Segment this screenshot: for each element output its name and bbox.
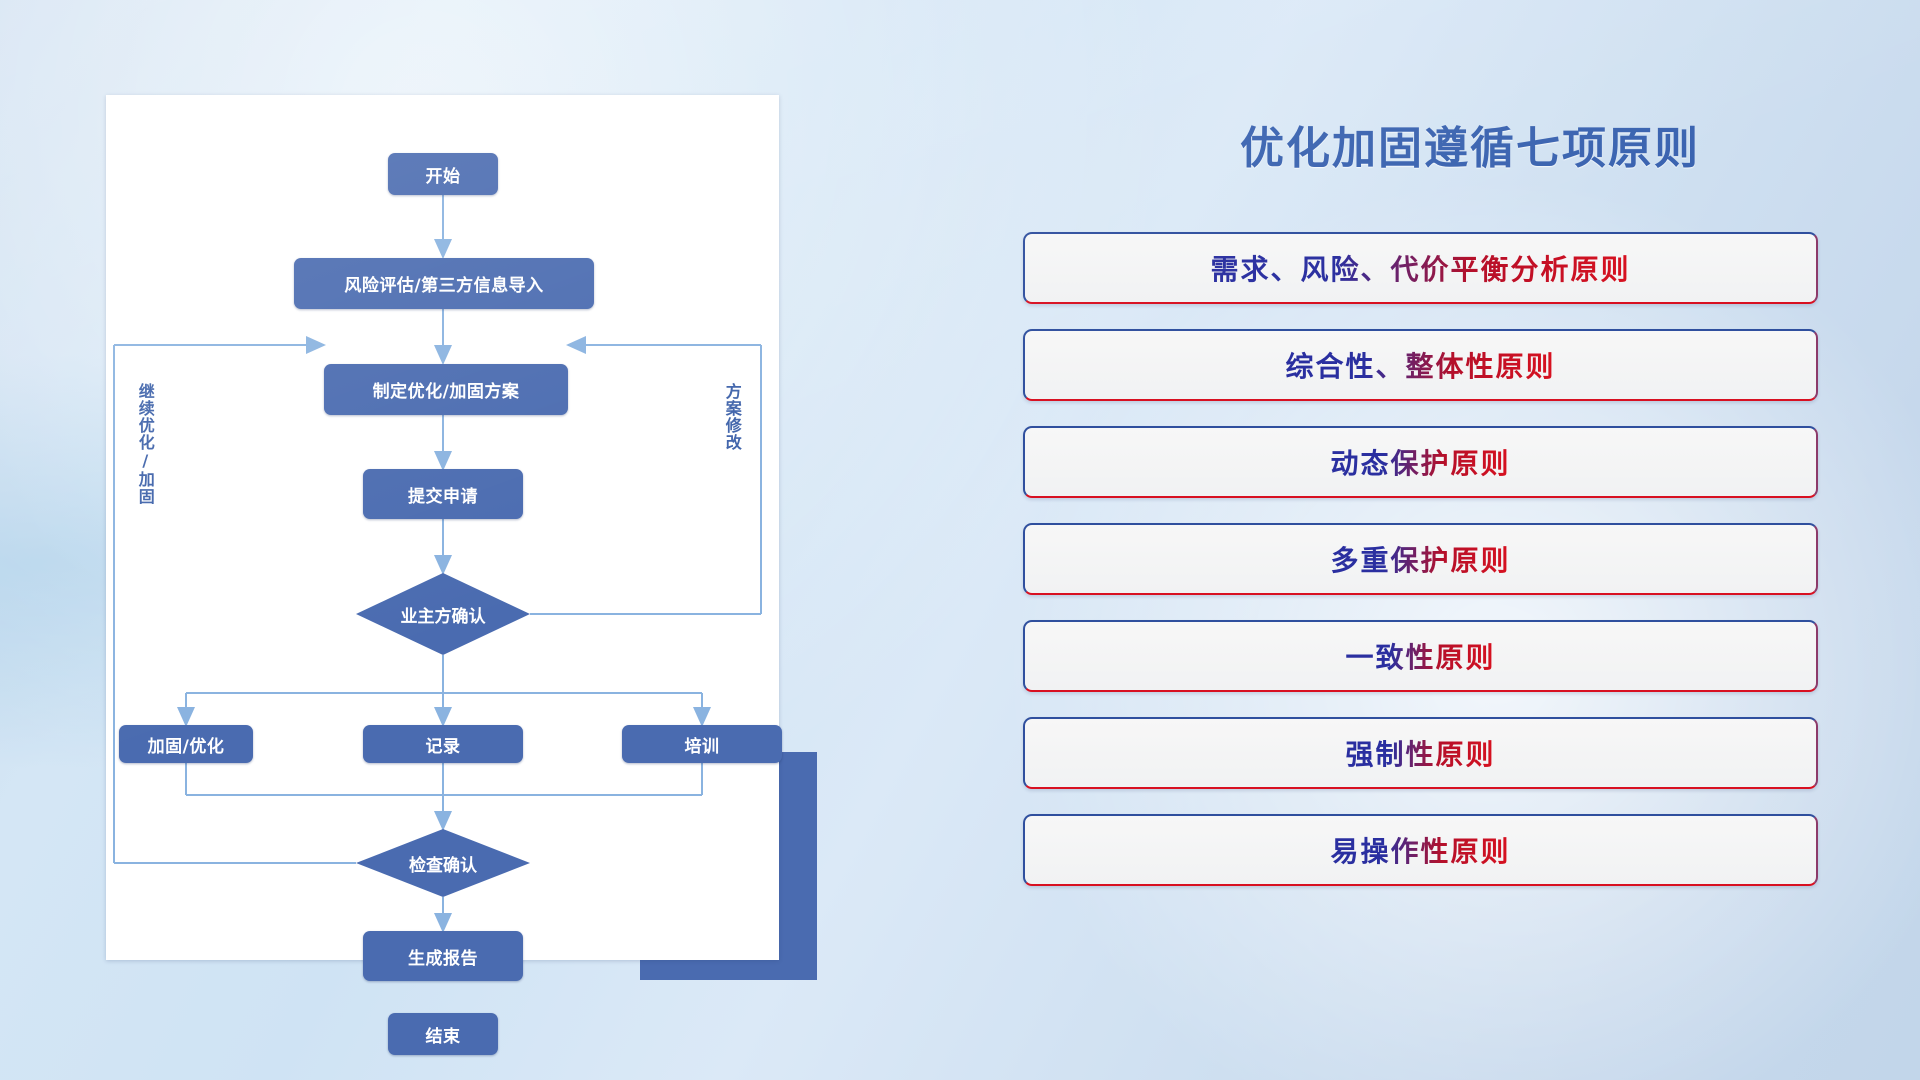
edge-label-right: 方案修改 <box>723 383 740 451</box>
flow-node-risk-assessment[interactable]: 风险评估/第三方信息导入 <box>294 258 594 309</box>
principle-card-5[interactable]: 一致性原则 <box>1023 620 1818 692</box>
flow-node-make-plan[interactable]: 制定优化/加固方案 <box>324 364 568 415</box>
flow-node-label: 检查确认 <box>409 851 477 876</box>
flow-node-training[interactable]: 培训 <box>622 725 782 763</box>
flow-node-label: 业主方确认 <box>401 602 486 627</box>
flow-node-label: 风险评估/第三方信息导入 <box>344 271 543 296</box>
flow-node-label: 制定优化/加固方案 <box>373 377 520 402</box>
flow-node-check-confirm[interactable]: 检查确认 <box>356 829 530 897</box>
flowchart-canvas: 继续优化/加固 方案修改 开始 风险评估/第三方信息导入 制定优化/加固方案 提… <box>106 95 779 960</box>
flow-node-generate-report[interactable]: 生成报告 <box>363 931 523 981</box>
principle-label: 综合性、整体性原则 <box>1285 345 1555 385</box>
flow-node-reinforce-optimize[interactable]: 加固/优化 <box>119 725 253 763</box>
flowchart-card: 继续优化/加固 方案修改 开始 风险评估/第三方信息导入 制定优化/加固方案 提… <box>106 95 779 960</box>
principle-card-3[interactable]: 动态保护原则 <box>1023 426 1818 498</box>
flow-node-label: 结束 <box>426 1022 461 1047</box>
page-title: 优化加固遵循七项原则 <box>1150 112 1790 176</box>
principle-label: 多重保护原则 <box>1330 539 1510 579</box>
principle-card-4[interactable]: 多重保护原则 <box>1023 523 1818 595</box>
slide-root: 继续优化/加固 方案修改 开始 风险评估/第三方信息导入 制定优化/加固方案 提… <box>0 0 1920 1080</box>
principle-card-7[interactable]: 易操作性原则 <box>1023 814 1818 886</box>
principle-card-1[interactable]: 需求、风险、代价平衡分析原则 <box>1023 232 1818 304</box>
flow-node-submit-application[interactable]: 提交申请 <box>363 469 523 519</box>
flow-node-label: 提交申请 <box>408 482 478 507</box>
principle-label: 一致性原则 <box>1345 636 1495 676</box>
principle-list: 需求、风险、代价平衡分析原则 综合性、整体性原则 动态保护原则 多重保护原则 一… <box>1023 232 1818 911</box>
flow-node-label: 生成报告 <box>408 944 478 969</box>
flow-node-label: 培训 <box>685 732 720 757</box>
principle-label: 易操作性原则 <box>1330 830 1510 870</box>
flow-node-start[interactable]: 开始 <box>388 153 498 195</box>
flow-node-label: 加固/优化 <box>148 732 225 757</box>
principle-card-2[interactable]: 综合性、整体性原则 <box>1023 329 1818 401</box>
principle-card-6[interactable]: 强制性原则 <box>1023 717 1818 789</box>
flow-node-label: 记录 <box>426 732 461 757</box>
flow-node-end[interactable]: 结束 <box>388 1013 498 1055</box>
flow-node-owner-confirm[interactable]: 业主方确认 <box>356 573 530 655</box>
principle-label: 强制性原则 <box>1345 733 1495 773</box>
flow-node-label: 开始 <box>426 162 461 187</box>
flow-node-record[interactable]: 记录 <box>363 725 523 763</box>
principle-label: 需求、风险、代价平衡分析原则 <box>1210 248 1630 288</box>
edge-label-left: 继续优化/加固 <box>136 383 153 505</box>
principle-label: 动态保护原则 <box>1330 442 1510 482</box>
